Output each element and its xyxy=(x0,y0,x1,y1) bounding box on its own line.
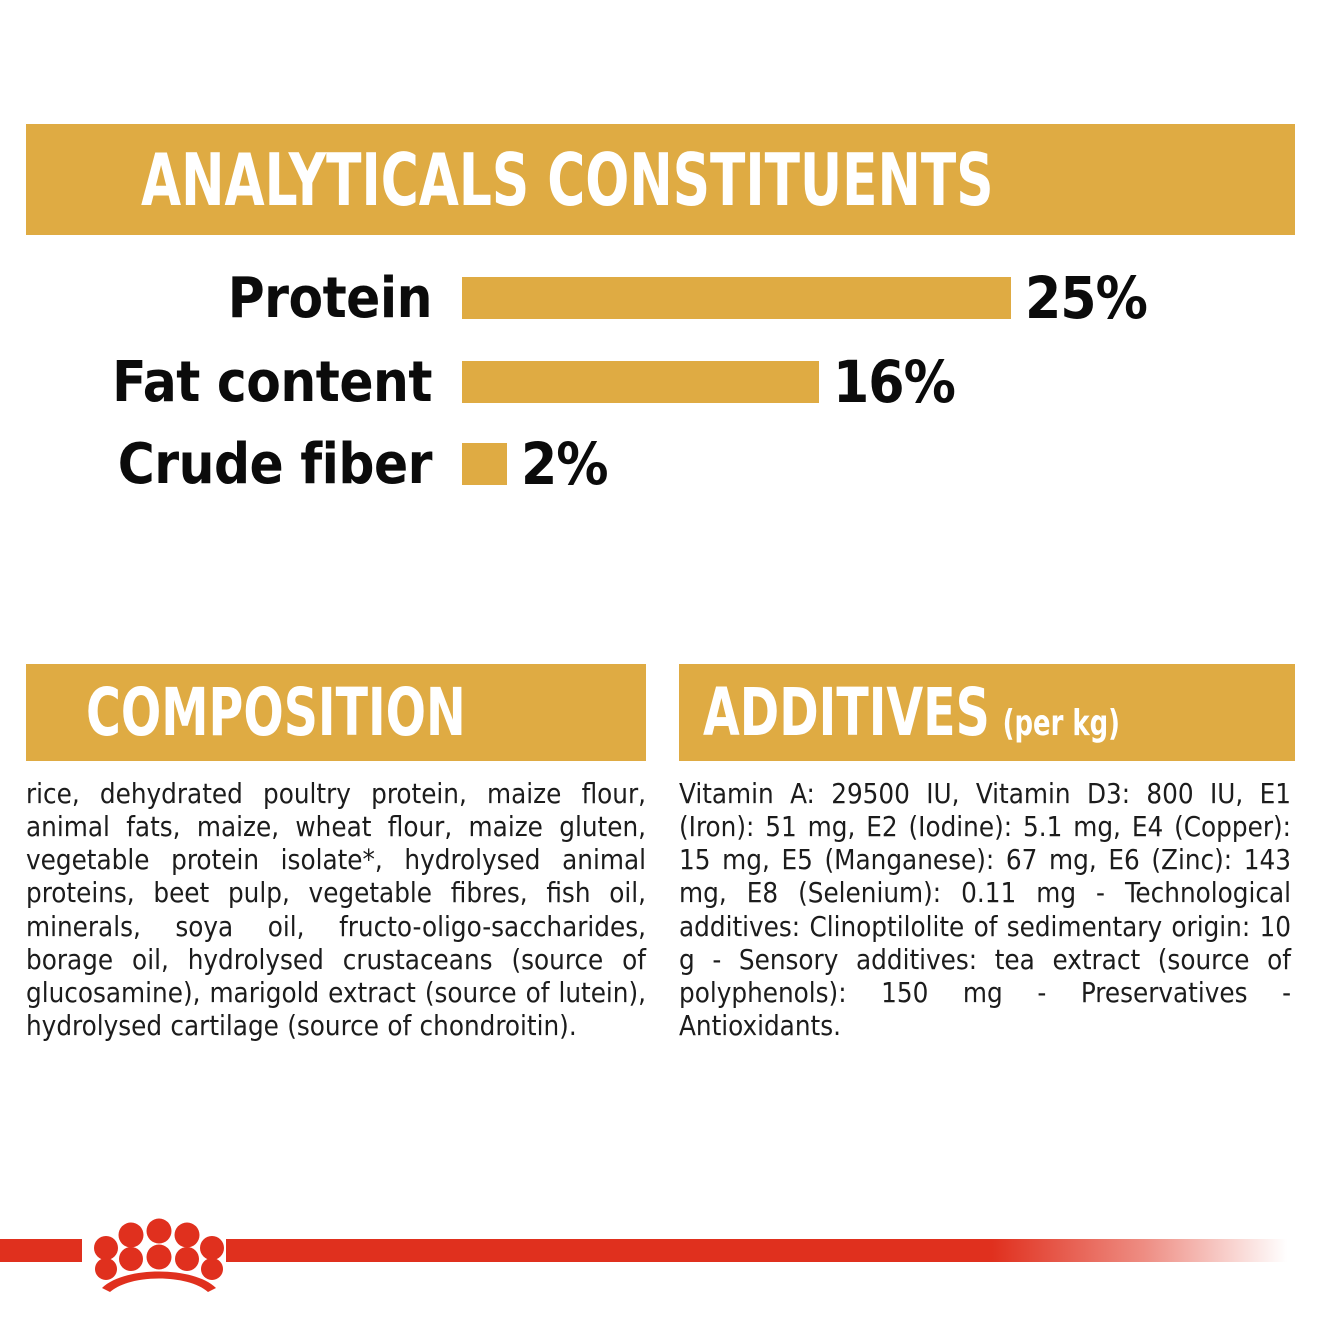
chart-row-protein: Protein 25% xyxy=(0,262,1320,334)
chart-row-fat-content: Fat content 16% xyxy=(0,346,1320,418)
chart-label-fat-content: Fat content xyxy=(0,350,462,415)
additives-per-kg-label: (per kg) xyxy=(1003,706,1120,742)
analyticals-constituents-header: ANALYTICALS CONSTITUENTS xyxy=(26,124,1295,235)
composition-title: COMPOSITION xyxy=(86,680,466,746)
nutrition-panel: ANALYTICALS CONSTITUENTS Protein 25% Fat… xyxy=(0,0,1320,1320)
additives-title-group: ADDITIVES (per kg) xyxy=(703,680,1120,746)
chart-value-crude-fiber: 2% xyxy=(521,430,608,498)
chart-bar-fat-content xyxy=(462,361,819,403)
chart-label-crude-fiber: Crude fiber xyxy=(0,432,462,497)
royal-canin-crown-icon xyxy=(86,1218,232,1292)
additives-header: ADDITIVES (per kg) xyxy=(679,664,1295,761)
footer xyxy=(0,1228,1320,1320)
chart-bar-group-crude-fiber: 2% xyxy=(462,430,608,498)
chart-bar-protein xyxy=(462,277,1011,319)
analyticals-constituents-title: ANALYTICALS CONSTITUENTS xyxy=(141,144,994,216)
chart-bar-group-fat-content: 16% xyxy=(462,348,955,416)
analyticals-bar-chart: Protein 25% Fat content 16% Crude fiber … xyxy=(0,262,1320,512)
chart-value-fat-content: 16% xyxy=(833,348,955,416)
chart-row-crude-fiber: Crude fiber 2% xyxy=(0,428,1320,500)
chart-value-protein: 25% xyxy=(1025,264,1147,332)
footer-rule-left xyxy=(0,1239,82,1262)
additives-title: ADDITIVES xyxy=(703,680,990,746)
composition-text: rice, dehydrated poultry protein, maize … xyxy=(26,778,646,1043)
chart-bar-crude-fiber xyxy=(462,443,507,485)
additives-text: Vitamin A: 29500 IU, Vitamin D3: 800 IU,… xyxy=(679,778,1291,1043)
chart-label-protein: Protein xyxy=(0,266,462,331)
footer-rule-right xyxy=(226,1239,1320,1262)
composition-header: COMPOSITION xyxy=(26,664,646,761)
chart-bar-group-protein: 25% xyxy=(462,264,1147,332)
